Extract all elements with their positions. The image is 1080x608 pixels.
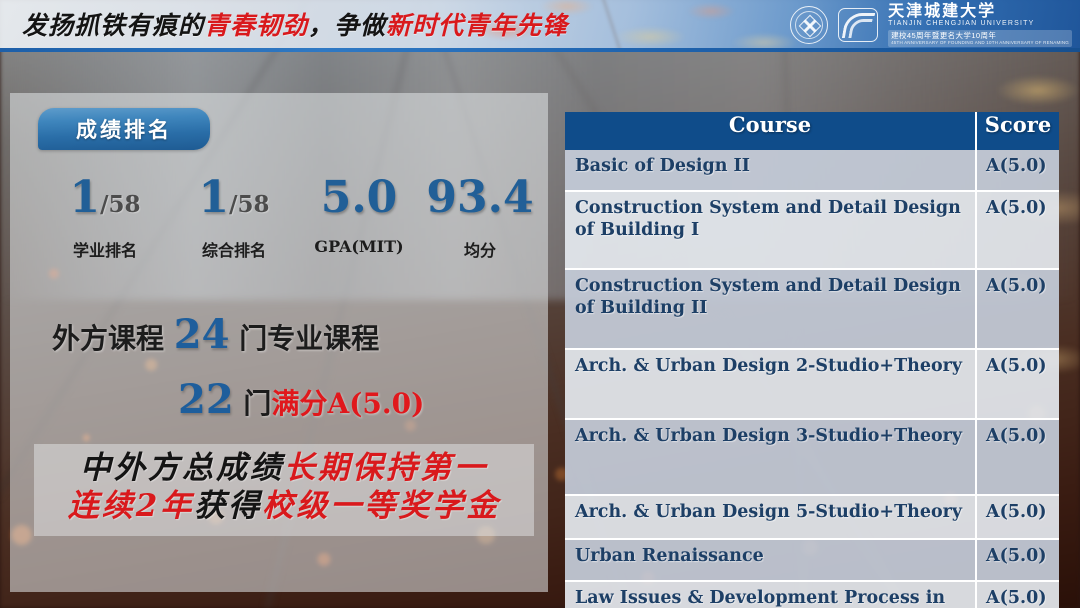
full-mark-mid: 门 [243,387,271,420]
slide-header: 发扬抓铁有痕的青春韧劲，争做新时代青年先锋 天津城建大学 TIANJIN CHE… [0,0,1080,50]
university-sail-logo-icon [838,8,878,42]
table-row: Construction System and Detail Design of… [565,269,1059,349]
course-table-head: Course Score [565,112,1059,150]
table-row: Construction System and Detail Design of… [565,191,1059,269]
stat-academic-rank-denominator: /58 [100,191,140,218]
stats-row: 1/58 学业排名 1/58 综合排名 5.0 GPA(MIT) 93.4 均分 [40,176,540,261]
table-row: Arch. & Urban Design 3-Studio+Theory A(5… [565,419,1059,495]
course-table-wrapper: Course Score Basic of Design II A(5.0) C… [565,112,1057,608]
calligraphy-line-1-black: 中外方总成绩 [80,450,284,486]
course-score-table: Course Score Basic of Design II A(5.0) C… [565,112,1059,608]
anniversary-en: 45TH ANNIVERSARY OF FOUNDING AND 10TH AN… [891,40,1069,45]
table-row: Law Issues & Development Process in Euro… [565,581,1059,608]
course-name-cell: Construction System and Detail Design of… [565,269,976,349]
calligraphy-line-2-black: 获得 [194,488,262,524]
course-score-cell: A(5.0) [976,495,1059,539]
stat-average-score: 93.4 均分 [420,176,540,261]
stat-academic-rank: 1/58 学业排名 [40,176,170,261]
header-underline [0,48,1080,52]
university-name-cn: 天津城建大学 [888,3,1072,19]
university-name-en: TIANJIN CHENGJIAN UNIVERSITY [888,20,1072,27]
course-score-cell: A(5.0) [976,539,1059,581]
full-mark-grade: 满分A(5.0) [271,387,424,420]
course-name-cell: Arch. & Urban Design 3-Studio+Theory [565,419,976,495]
anniversary-cn: 建校45周年暨更名大学10周年 [891,31,996,40]
stat-average-score-label: 均分 [464,237,496,261]
course-score-cell: A(5.0) [976,581,1059,608]
university-name-block: 天津城建大学 TIANJIN CHENGJIAN UNIVERSITY 建校45… [888,3,1072,47]
header-title-part-1: 发扬抓铁有痕的 [22,11,204,40]
full-mark-line: 22 门满分A(5.0) [178,376,424,423]
table-row: Basic of Design II A(5.0) [565,150,1059,191]
foreign-courses-count: 24 [174,311,230,358]
score-column-header: Score [976,112,1059,150]
course-name-cell: Arch. & Urban Design 2-Studio+Theory [565,349,976,419]
header-title: 发扬抓铁有痕的青春韧劲，争做新时代青年先锋 [22,6,568,42]
header-title-part-3: ，争做 [308,11,386,40]
stat-academic-rank-label: 学业排名 [73,237,137,261]
calligraphy-line-2-red-a: 连续2年 [68,488,195,524]
anniversary-badge: 建校45周年暨更名大学10周年 45TH ANNIVERSARY OF FOUN… [888,30,1072,47]
stat-overall-rank-number: 1 [198,172,229,223]
stat-academic-rank-number: 1 [69,172,100,223]
slide-root: 发扬抓铁有痕的青春韧劲，争做新时代青年先锋 天津城建大学 TIANJIN CHE… [0,0,1080,608]
foreign-courses-prefix: 外方课程 [52,322,164,355]
course-name-cell: Arch. & Urban Design 5-Studio+Theory [565,495,976,539]
foreign-courses-line: 外方课程 24 门专业课程 [52,311,379,358]
course-score-cell: A(5.0) [976,419,1059,495]
rank-section-label: 成绩排名 [76,114,172,144]
full-mark-count: 22 [178,376,234,423]
stat-gpa-label: GPA(MIT) [314,237,403,256]
stat-overall-rank: 1/58 综合排名 [170,176,298,261]
course-score-cell: A(5.0) [976,269,1059,349]
rank-section-badge: 成绩排名 [38,108,210,150]
table-row: Arch. & Urban Design 2-Studio+Theory A(5… [565,349,1059,419]
course-name-cell: Urban Renaissance [565,539,976,581]
calligraphy-block: 中外方总成绩长期保持第一 连续2年获得校级一等奖学金 [34,444,534,536]
stat-gpa-value: 5.0 [321,176,398,220]
calligraphy-line-2: 连续2年获得校级一等奖学金 [34,488,534,526]
course-score-cell: A(5.0) [976,349,1059,419]
header-logos: 天津城建大学 TIANJIN CHENGJIAN UNIVERSITY 建校45… [790,4,1072,46]
stat-overall-rank-denominator: /58 [229,191,269,218]
university-seal-icon [790,6,828,44]
course-table-header-row: Course Score [565,112,1059,150]
stat-gpa: 5.0 GPA(MIT) [298,176,420,261]
foreign-courses-suffix: 门专业课程 [239,322,379,355]
course-table-body: Basic of Design II A(5.0) Construction S… [565,150,1059,608]
calligraphy-line-1-red: 长期保持第一 [284,450,488,486]
stat-academic-rank-value: 1/58 [69,176,140,220]
calligraphy-line-2-red-b: 校级一等奖学金 [262,488,500,524]
course-score-cell: A(5.0) [976,191,1059,269]
course-name-cell: Construction System and Detail Design of… [565,191,976,269]
table-row: Arch. & Urban Design 5-Studio+Theory A(5… [565,495,1059,539]
header-title-part-2: 青春韧劲 [204,11,308,40]
stat-overall-rank-label: 综合排名 [202,237,266,261]
course-column-header: Course [565,112,976,150]
course-name-cell: Basic of Design II [565,150,976,191]
stat-overall-rank-value: 1/58 [198,176,269,220]
header-title-part-4: 新时代青年先锋 [386,11,568,40]
table-row: Urban Renaissance A(5.0) [565,539,1059,581]
stat-average-score-value: 93.4 [426,176,533,220]
course-name-cell: Law Issues & Development Process in Euro… [565,581,976,608]
course-score-cell: A(5.0) [976,150,1059,191]
calligraphy-line-1: 中外方总成绩长期保持第一 [34,450,534,488]
